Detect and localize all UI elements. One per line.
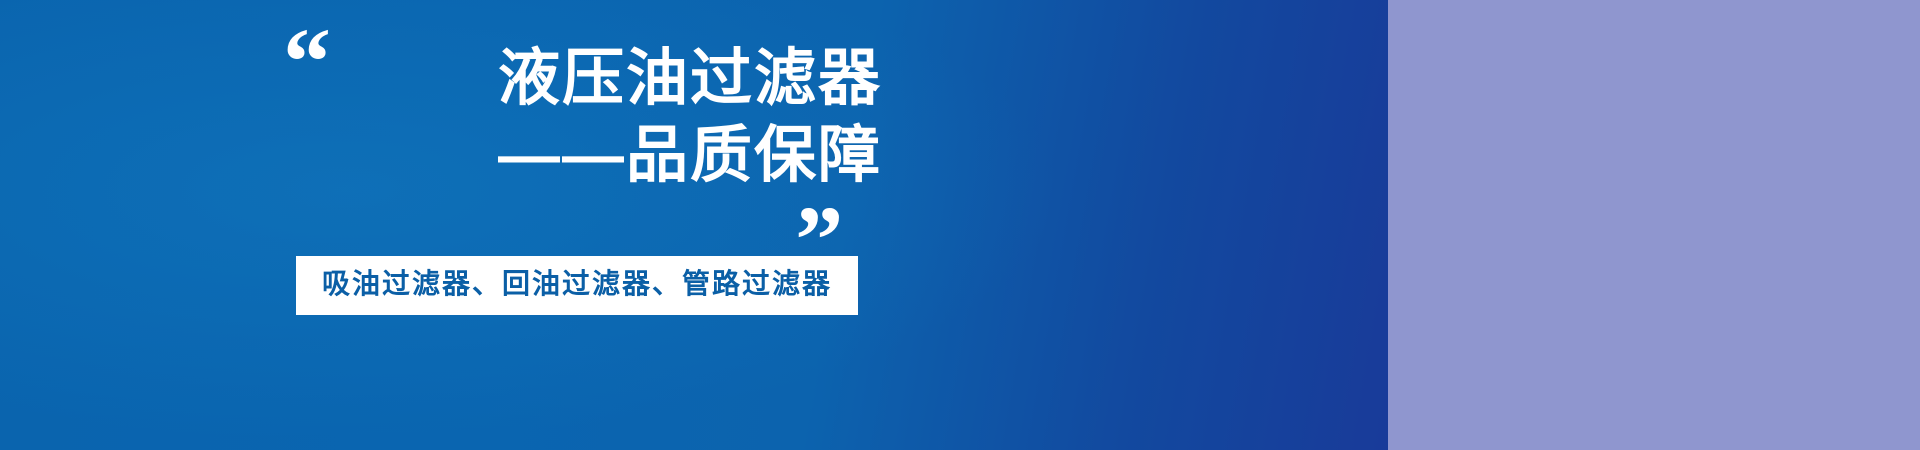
product-panel: [1088, 0, 1920, 450]
subtitle-text: 吸油过滤器、回油过滤器、管路过滤器: [322, 269, 832, 300]
headline-line-2: ——品质保障: [300, 121, 882, 190]
subtitle-box: 吸油过滤器、回油过滤器、管路过滤器: [296, 256, 858, 315]
promo-banner: “ 液压油过滤器 ——品质保障 „ 吸油过滤器、回油过滤器、管路过滤器: [0, 0, 1920, 450]
quote-close-mark: „: [796, 142, 844, 238]
headline-line-1: 液压油过滤器: [300, 44, 882, 113]
panel-fill-right: [1388, 0, 1920, 450]
